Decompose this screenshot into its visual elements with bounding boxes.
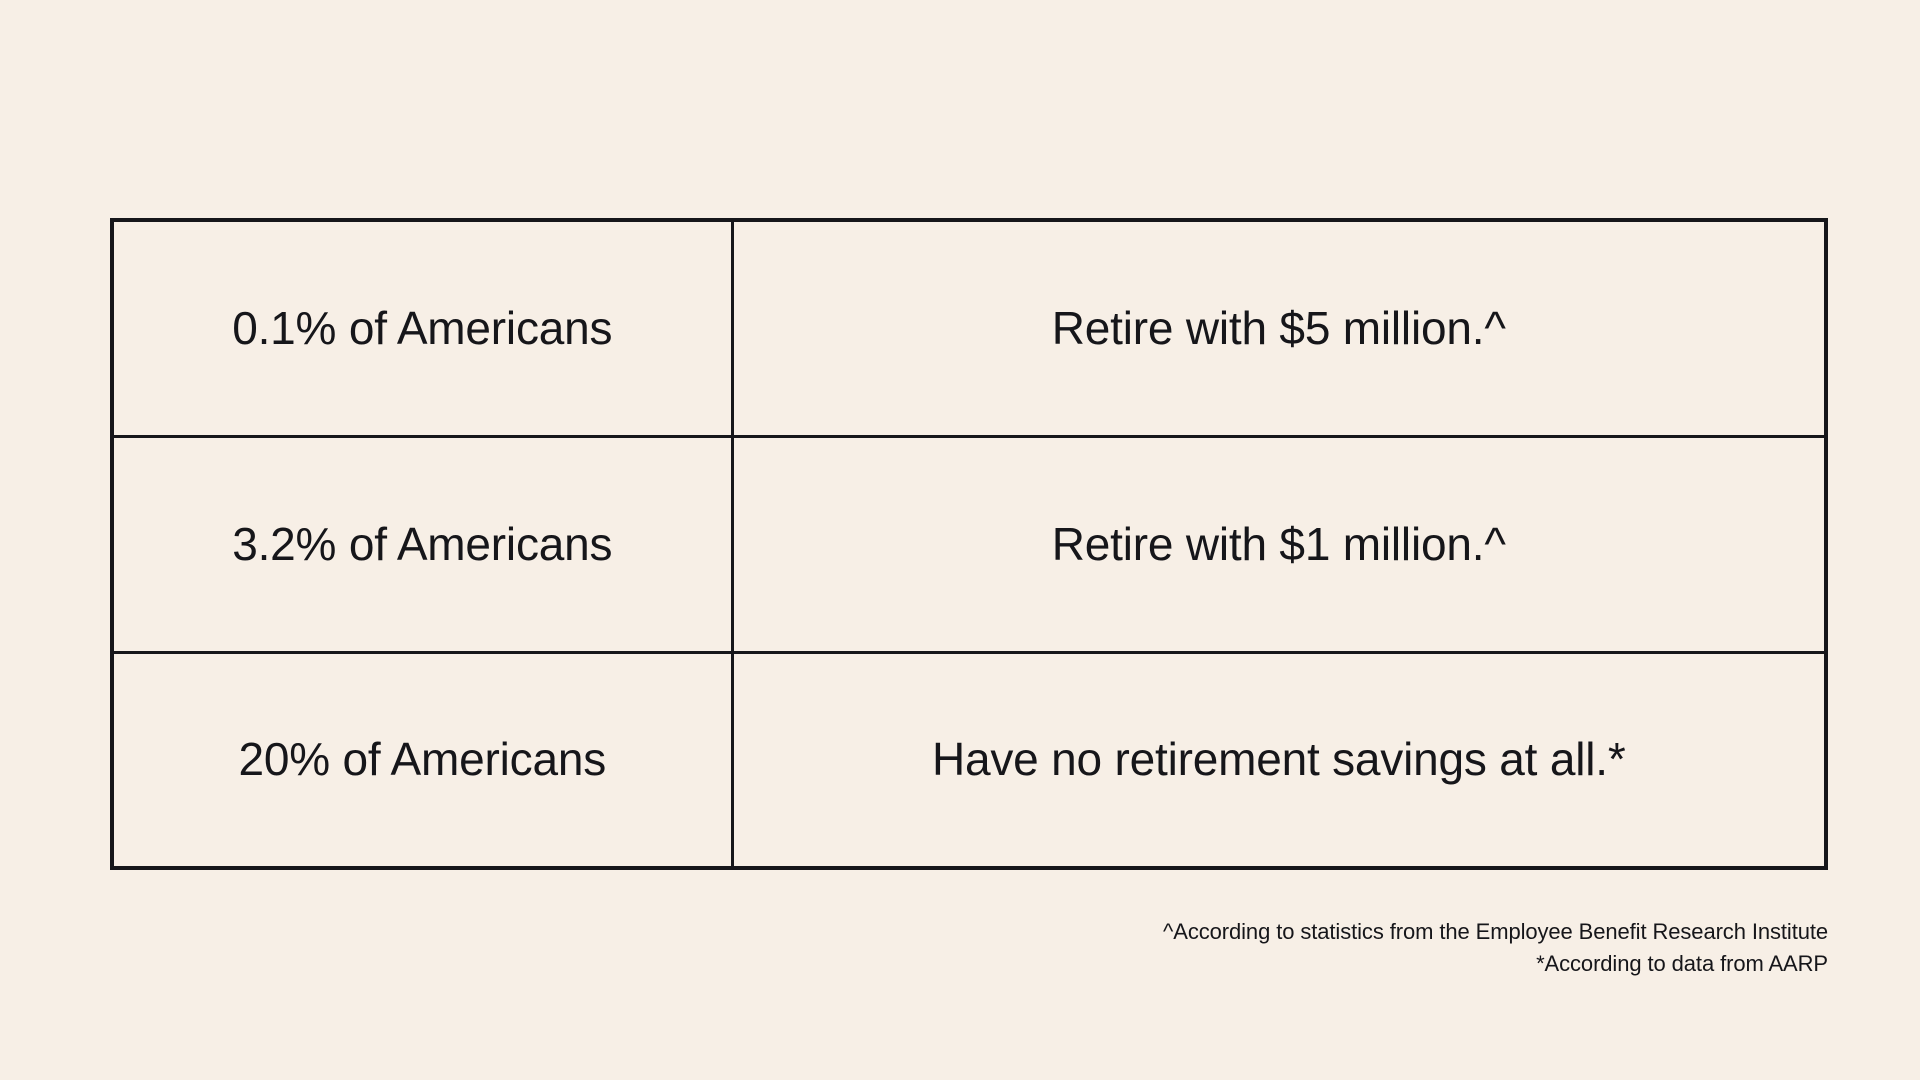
stat-description-cell: Retire with $5 million.^ bbox=[732, 220, 1826, 436]
stat-value-cell: 0.1% of Americans bbox=[112, 220, 732, 436]
stat-value-cell: 20% of Americans bbox=[112, 652, 732, 868]
footnote-source-aarp: *According to data from AARP bbox=[1163, 948, 1828, 980]
table-row: 0.1% of Americans Retire with $5 million… bbox=[112, 220, 1826, 436]
stat-description-cell: Have no retirement savings at all.* bbox=[732, 652, 1826, 868]
table-row: 20% of Americans Have no retirement savi… bbox=[112, 652, 1826, 868]
table-body: 0.1% of Americans Retire with $5 million… bbox=[112, 220, 1826, 868]
retirement-stats-table: 0.1% of Americans Retire with $5 million… bbox=[110, 218, 1828, 870]
stat-value-cell: 3.2% of Americans bbox=[112, 436, 732, 652]
table-row: 3.2% of Americans Retire with $1 million… bbox=[112, 436, 1826, 652]
infographic-page: 0.1% of Americans Retire with $5 million… bbox=[0, 0, 1920, 1080]
stat-description-cell: Retire with $1 million.^ bbox=[732, 436, 1826, 652]
footnote-source-ebri: ^According to statistics from the Employ… bbox=[1163, 916, 1828, 948]
footnotes-block: ^According to statistics from the Employ… bbox=[1163, 916, 1828, 980]
